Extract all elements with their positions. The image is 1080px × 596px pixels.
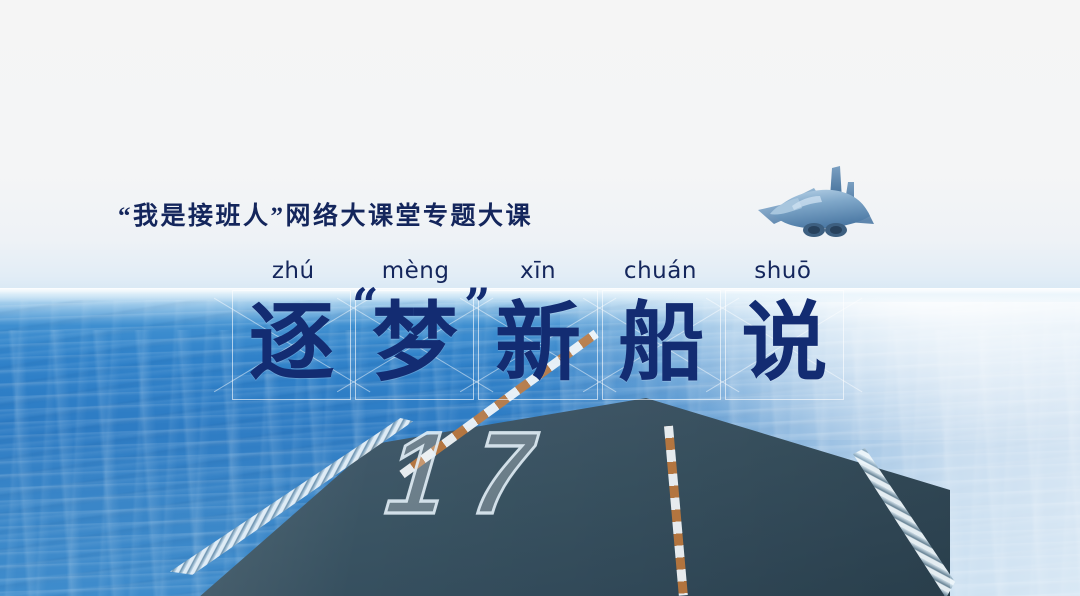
character-grid-cell-5: 说: [725, 290, 844, 400]
title-quote-close: ”: [464, 282, 490, 328]
character-grid-cell-3: 新: [478, 290, 597, 400]
character-grid-row: 逐 梦 新 船 说: [232, 290, 844, 400]
pinyin-chuan: chuán: [599, 254, 721, 288]
fighter-jet-icon: [736, 158, 892, 254]
title-character-xin: 新: [478, 290, 597, 400]
pinyin-shuo: shuō: [722, 254, 844, 288]
pinyin-row: zhú mèng xīn chuán shuō: [232, 254, 844, 288]
character-grid-cell-4: 船: [602, 290, 721, 400]
title-character-shuo: 说: [725, 290, 844, 400]
title-character-zhu: 逐: [232, 290, 351, 400]
main-title-block: zhú mèng xīn chuán shuō 逐 梦 新 船: [232, 254, 844, 404]
program-title-line: “我是接班人”网络大课堂专题大课: [118, 196, 533, 232]
title-card-scene: 17: [0, 0, 1080, 596]
pinyin-zhu: zhú: [232, 254, 354, 288]
character-grid-cell-1: 逐: [232, 290, 351, 400]
title-character-chuan: 船: [602, 290, 721, 400]
title-quote-open: “: [352, 282, 378, 328]
pinyin-xin: xīn: [477, 254, 599, 288]
